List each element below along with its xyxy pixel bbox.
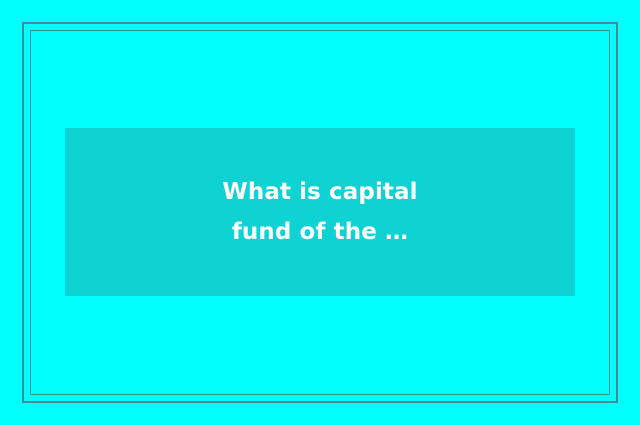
question-text-line-2: fund of the … <box>232 212 408 252</box>
slide-canvas: What is capital fund of the … <box>0 0 640 425</box>
question-text-line-1: What is capital <box>222 172 417 212</box>
question-panel: What is capital fund of the … <box>65 128 575 296</box>
